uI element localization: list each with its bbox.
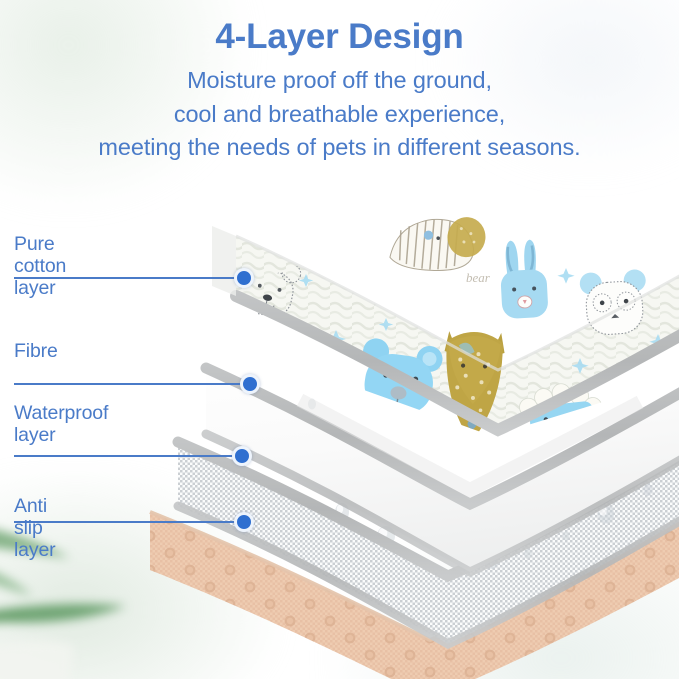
subtitle-line-1: Moisture proof off the ground,: [0, 64, 679, 97]
callout-dot-anti-slip[interactable]: [234, 512, 254, 532]
callout-leader-line-pure-cotton: [14, 277, 246, 279]
callout-leader-line-anti-slip: [14, 521, 246, 523]
callout-dot-waterproof[interactable]: [232, 446, 252, 466]
callout-label-anti-slip: Anti slip layer: [14, 496, 56, 561]
callout-dot-pure-cotton[interactable]: [234, 268, 254, 288]
subtitle-line-2: cool and breathable experience,: [0, 98, 679, 131]
heading-block: 4-Layer Design Moisture proof off the gr…: [0, 16, 679, 164]
fabric-script-dog: dog: [404, 421, 422, 435]
subtitle-block: Moisture proof off the ground, cool and …: [0, 64, 679, 164]
fabric-script-bear: bear: [466, 270, 491, 285]
callout-label-waterproof: Waterproof layer: [14, 403, 108, 447]
motif-rabbit: [499, 239, 549, 319]
page-title: 4-Layer Design: [0, 16, 679, 57]
callout-leader-line-waterproof: [14, 455, 244, 457]
infographic-canvas: bear dog 4-Layer Design Moisture proof o…: [0, 0, 679, 679]
motif-striped-animal: [389, 210, 487, 276]
callout-label-fibre: Fibre: [14, 341, 58, 363]
callout-dot-fibre[interactable]: [240, 374, 260, 394]
callout-label-pure-cotton: Pure cotton layer: [14, 234, 66, 299]
callout-leader-line-fibre: [14, 383, 252, 385]
subtitle-line-3: meeting the needs of pets in different s…: [0, 131, 679, 164]
